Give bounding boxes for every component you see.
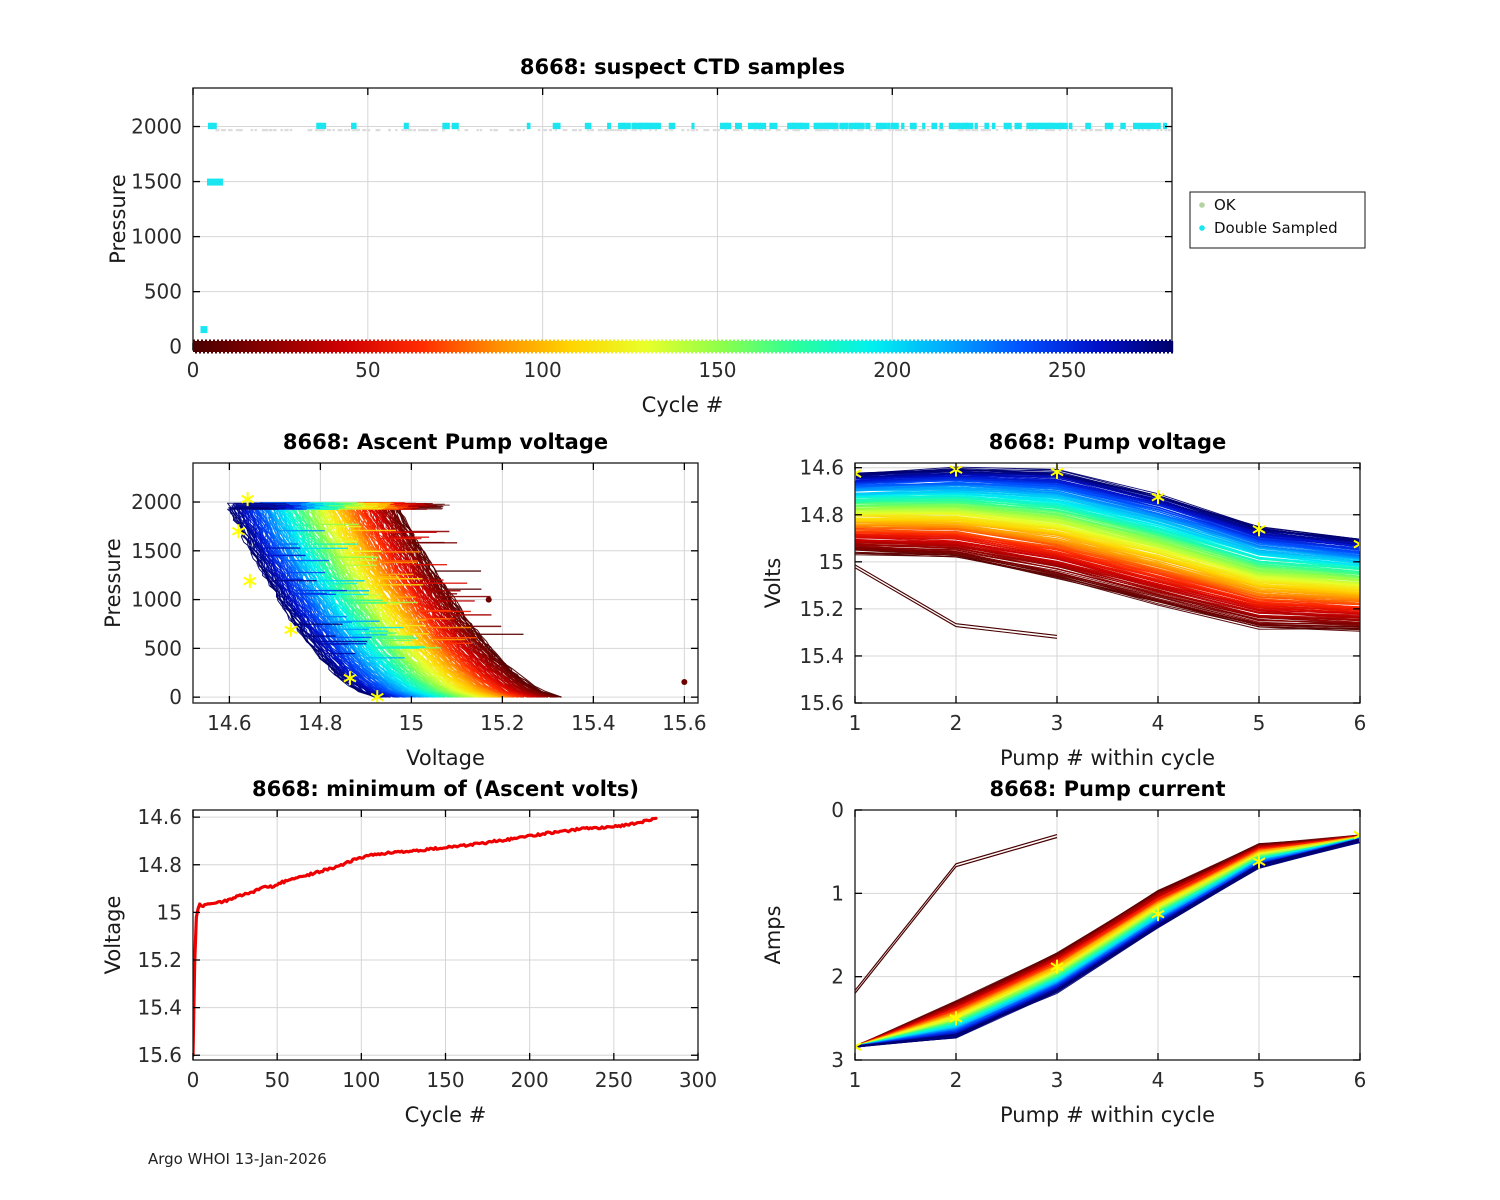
ctd-panel-ytick: 1000	[131, 225, 182, 249]
ctd-double-sampled-marker	[992, 123, 996, 129]
ctd-double-sampled-marker	[691, 123, 694, 129]
ctd-panel-plot-area	[200, 123, 1173, 350]
pump-voltage-panel-xtick: 3	[1051, 711, 1064, 735]
min-volts-panel: 05010015020025030014.614.81515.215.415.6…	[101, 777, 717, 1127]
pump-voltage-panel-plot-area	[849, 463, 1366, 639]
ctd-double-sampled-marker	[883, 123, 887, 129]
pump-voltage-panel-xtick: 4	[1152, 711, 1165, 735]
figure-canvas: 05010015020025005001000150020008668: sus…	[0, 0, 1500, 1200]
min-volts-panel-xtick: 150	[426, 1068, 464, 1092]
min-volts-panel-xtick: 0	[187, 1068, 200, 1092]
ascent-voltage-yellow-marker	[244, 574, 256, 588]
ctd-double-sampled-marker	[887, 123, 890, 129]
ctd-double-sampled-marker	[865, 123, 870, 129]
min-volts-panel-plot-area	[193, 818, 656, 1055]
ascent-voltage-panel-xtick: 15	[399, 711, 424, 735]
ctd-double-sampled-marker	[1133, 123, 1141, 129]
pump-current-panel: 12345601238668: Pump currentPump # withi…	[761, 777, 1366, 1127]
ctd-double-sampled-marker	[1015, 123, 1022, 129]
ascent-voltage-outlier-point	[486, 597, 492, 603]
ctd-panel-ytick: 500	[144, 280, 182, 304]
ctd-double-sampled-marker	[447, 123, 450, 129]
ascent-voltage-panel-xtick: 15.4	[571, 711, 616, 735]
min-volts-panel-xtick: 50	[264, 1068, 289, 1092]
pump-voltage-panel-ytick: 14.8	[799, 503, 844, 527]
ascent-voltage-panel-xtick: 15.6	[662, 711, 707, 735]
argo-diagnostic-figure: 05010015020025005001000150020008668: sus…	[0, 0, 1500, 1200]
pump-current-panel-ylabel: Amps	[761, 905, 785, 964]
ctd-double-sampled-marker	[404, 123, 409, 129]
ctd-double-sampled-marker	[845, 123, 848, 129]
ascent-voltage-panel-ylabel: Pressure	[101, 538, 125, 628]
pump-voltage-panel-ytick: 15.6	[799, 691, 844, 715]
min-volts-panel-ytick: 14.8	[137, 853, 182, 877]
ctd-double-sampled-marker	[984, 123, 989, 129]
ctd-panel-xlabel: Cycle #	[642, 393, 724, 417]
pump-current-panel-xtick: 1	[849, 1068, 862, 1092]
ctd-panel-title: 8668: suspect CTD samples	[520, 55, 845, 79]
legend-swatch-dot	[1199, 225, 1205, 231]
min-volts-panel-ytick: 15.2	[137, 948, 182, 972]
ctd-double-sampled-marker	[893, 123, 899, 129]
ctd-double-sampled-marker	[207, 179, 223, 186]
pump-current-panel-ytick: 1	[831, 881, 844, 905]
ctd-panel-ytick: 2000	[131, 115, 182, 139]
pump-voltage-panel-ytick: 15	[819, 550, 844, 574]
pump-voltage-panel-ylabel: Volts	[761, 558, 785, 609]
ctd-double-sampled-marker	[857, 123, 865, 129]
ctd-double-sampled-marker	[1141, 123, 1147, 129]
pump-current-panel-ytick: 0	[831, 798, 844, 822]
ctd-double-sampled-marker	[952, 123, 959, 129]
ascent-voltage-panel-xtick: 15.2	[480, 711, 525, 735]
ctd-double-sampled-marker	[669, 123, 676, 129]
ctd-double-sampled-marker	[939, 123, 943, 129]
ctd-double-sampled-marker	[553, 123, 561, 129]
ctd-panel-xtick: 200	[873, 358, 911, 382]
ctd-double-sampled-marker	[922, 123, 925, 129]
ctd-double-sampled-marker	[901, 123, 904, 129]
ctd-panel: 05010015020025005001000150020008668: sus…	[106, 55, 1173, 417]
ascent-voltage-panel: 14.614.81515.215.415.6050010001500200086…	[101, 430, 707, 770]
ctd-double-sampled-marker	[965, 123, 973, 129]
ctd-double-sampled-marker	[760, 123, 766, 129]
ascent-voltage-panel-ytick: 0	[169, 685, 182, 709]
pump-voltage-panel: 12345614.614.81515.215.415.68668: Pump v…	[761, 430, 1366, 770]
ctd-double-sampled-marker	[1105, 123, 1114, 129]
ascent-voltage-panel-plot-area	[227, 492, 687, 704]
ctd-double-sampled-marker	[607, 123, 611, 129]
ctd-panel-gridlines	[193, 88, 1172, 350]
ctd-panel-xtick: 150	[698, 358, 736, 382]
ctd-legend: OKDouble Sampled	[1190, 192, 1365, 248]
pump-current-panel-xtick: 2	[950, 1068, 963, 1092]
min-volts-panel-xtick: 300	[679, 1068, 717, 1092]
legend-swatch-dot	[1199, 202, 1205, 208]
min-volts-panel-ytick: 15.6	[137, 1043, 182, 1067]
pump-voltage-panel-xtick: 6	[1354, 711, 1367, 735]
pump-voltage-panel-ytick: 15.4	[799, 644, 844, 668]
pump-voltage-panel-xtick: 2	[950, 711, 963, 735]
ctd-double-sampled-marker	[834, 123, 838, 129]
ctd-double-sampled-marker	[527, 123, 531, 129]
ascent-voltage-panel-ytick: 1500	[131, 539, 182, 563]
pump-current-panel-xtick: 5	[1253, 1068, 1266, 1092]
ctd-double-sampled-marker	[1049, 123, 1058, 129]
ctd-colorbar	[193, 340, 1173, 354]
ctd-double-sampled-marker	[618, 123, 621, 129]
pump-voltage-panel-xlabel: Pump # within cycle	[1000, 746, 1215, 770]
ascent-voltage-panel-ytick: 500	[144, 636, 182, 660]
footer-credit: Argo WHOI 13-Jan-2026	[148, 1150, 327, 1168]
ctd-double-sampled-marker	[735, 123, 742, 129]
pump-voltage-panel-ytick: 14.6	[799, 456, 844, 480]
pump-current-panel-xlabel: Pump # within cycle	[1000, 1103, 1215, 1127]
min-volts-line	[193, 818, 656, 1055]
pump-voltage-panel-xtick: 1	[849, 711, 862, 735]
min-volts-panel-xtick: 250	[595, 1068, 633, 1092]
min-volts-panel-title: 8668: minimum of (Ascent volts)	[252, 777, 639, 801]
min-volts-panel-ytick: 15.4	[137, 996, 182, 1020]
ctd-double-sampled-marker	[1155, 123, 1160, 129]
min-volts-panel-xtick: 200	[511, 1068, 549, 1092]
pump-current-panel-title: 8668: Pump current	[989, 777, 1225, 801]
ascent-voltage-panel-ytick: 1000	[131, 588, 182, 612]
ctd-double-sampled-marker	[211, 123, 217, 129]
ctd-double-sampled-marker	[1069, 123, 1073, 129]
pump-current-panel-xtick: 6	[1354, 1068, 1367, 1092]
ctd-double-sampled-marker	[1085, 123, 1091, 129]
pump-current-traces	[855, 835, 1360, 1048]
ctd-double-sampled-marker	[1004, 123, 1012, 129]
ctd-double-sampled-marker	[442, 123, 447, 129]
ctd-double-sampled-marker	[200, 326, 207, 333]
min-volts-panel-ylabel: Voltage	[101, 896, 125, 975]
ctd-double-sampled-marker	[910, 123, 917, 129]
ctd-panel-xtick: 0	[187, 358, 200, 382]
ctd-panel-ytick: 0	[169, 335, 182, 359]
legend-label: OK	[1214, 196, 1237, 214]
pump-current-panel-ytick: 2	[831, 965, 844, 989]
min-volts-panel-ytick: 14.6	[137, 805, 182, 829]
ctd-double-sampled-marker	[319, 123, 327, 129]
pump-voltage-panel-ytick: 15.2	[799, 597, 844, 621]
ascent-voltage-panel-ytick: 2000	[131, 490, 182, 514]
pump-current-panel-xtick: 4	[1152, 1068, 1165, 1092]
ctd-panel-ytick: 1500	[131, 170, 182, 194]
ascent-voltage-outlier-point	[681, 679, 687, 685]
ctd-double-sampled-marker	[1120, 123, 1126, 129]
min-volts-panel-ytick: 15	[157, 900, 182, 924]
ascent-voltage-panel-xtick: 14.6	[207, 711, 252, 735]
min-volts-series	[193, 818, 656, 1055]
ctd-double-sampled-marker	[975, 123, 978, 129]
legend-label: Double Sampled	[1214, 219, 1338, 237]
pump-voltage-panel-xtick: 5	[1253, 711, 1266, 735]
ctd-double-sampled-marker	[725, 123, 732, 129]
pump-current-panel-plot-area	[849, 828, 1366, 1054]
pump-voltage-traces	[855, 467, 1360, 638]
ctd-double-sampled-marker	[801, 123, 810, 129]
min-volts-panel-xlabel: Cycle #	[405, 1103, 487, 1127]
pump-current-panel-ytick: 3	[831, 1048, 844, 1072]
ctd-double-sampled-marker	[351, 123, 357, 129]
ctd-double-sampled-marker	[585, 123, 592, 129]
ctd-double-sampled-marker	[452, 123, 459, 129]
ascent-voltage-panel-title: 8668: Ascent Pump voltage	[283, 430, 608, 454]
ctd-double-sampled-marker	[1059, 123, 1067, 129]
ctd-double-sampled-points	[200, 123, 1170, 333]
ctd-panel-ylabel: Pressure	[106, 174, 130, 264]
ascent-voltage-panel-xtick: 14.8	[298, 711, 343, 735]
ctd-double-sampled-marker	[1147, 123, 1156, 129]
pump-current-panel-xtick: 3	[1051, 1068, 1064, 1092]
ctd-double-sampled-marker	[622, 123, 631, 129]
ctd-double-sampled-marker	[769, 123, 777, 129]
ctd-panel-ticks: 0501001502002500500100015002000	[131, 88, 1172, 382]
ctd-panel-xtick: 50	[355, 358, 380, 382]
legend-item-double-sampled[interactable]: Double Sampled	[1199, 219, 1337, 237]
ctd-panel-xtick: 250	[1048, 358, 1086, 382]
figure-footer: Argo WHOI 13-Jan-2026	[148, 1150, 327, 1168]
ascent-voltage-panel-xlabel: Voltage	[406, 746, 485, 770]
min-volts-panel-xtick: 100	[342, 1068, 380, 1092]
ctd-double-sampled-marker	[655, 123, 661, 129]
ctd-panel-xtick: 100	[524, 358, 562, 382]
ctd-double-sampled-marker	[931, 123, 937, 129]
pump-voltage-panel-title: 8668: Pump voltage	[989, 430, 1227, 454]
